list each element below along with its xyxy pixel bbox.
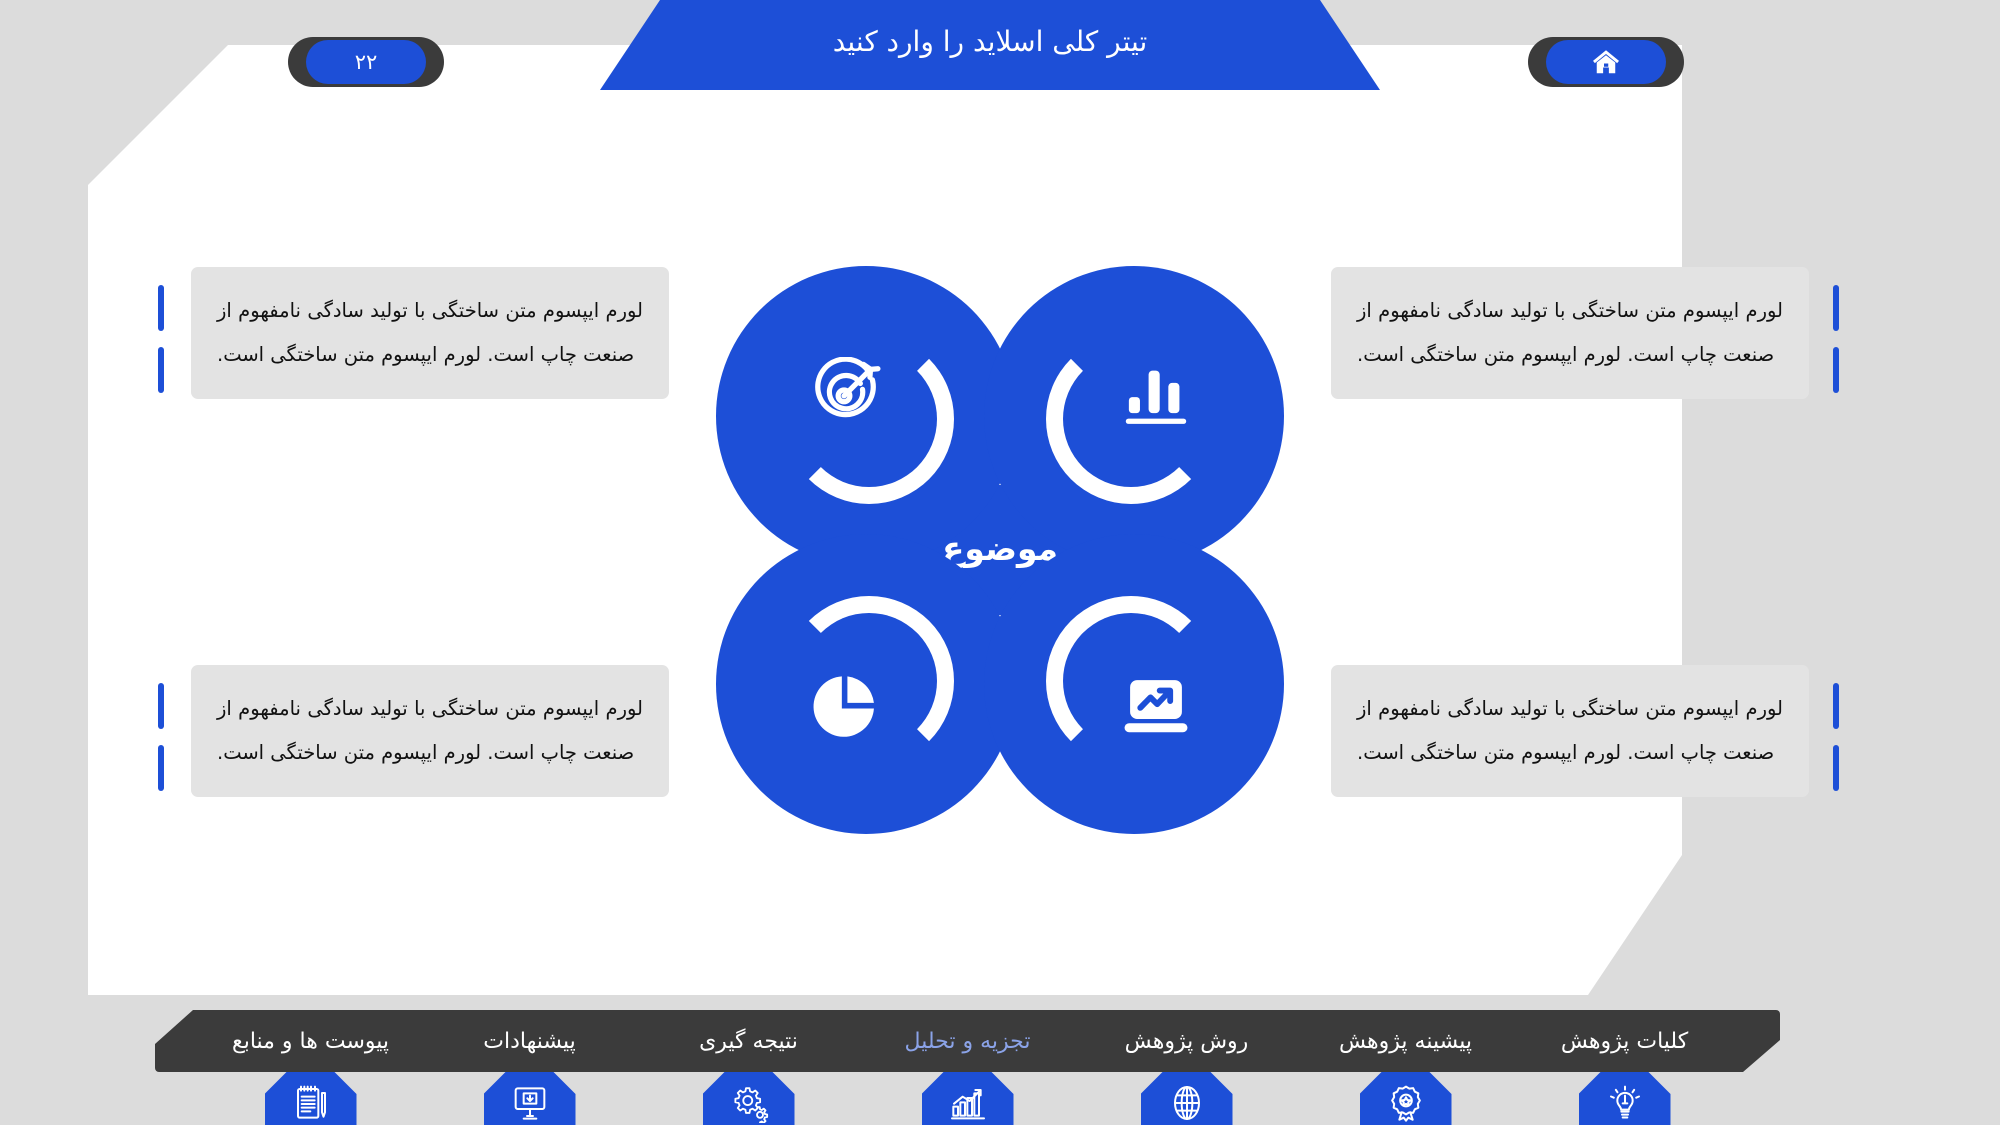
lightbulb-icon	[1605, 1083, 1645, 1123]
diagram-node-bottom-right[interactable]	[984, 534, 1284, 834]
globe-icon	[1167, 1083, 1207, 1123]
nav-item-pishine[interactable]: پیشینه پژوهش	[1296, 1029, 1515, 1054]
diagram-hub-label: موضوع	[942, 529, 1058, 568]
home-icon	[1591, 47, 1621, 77]
diagram-node-top-right[interactable]	[984, 266, 1284, 566]
bottom-navigation: کلیات پژوهش پیشینه پژوهش روش پژوهش تجزیه…	[155, 1010, 1780, 1072]
nav-icon-pishnahad[interactable]	[420, 1072, 639, 1125]
growth-bar-chart-icon	[948, 1083, 988, 1123]
nav-icon-tajziye[interactable]	[858, 1072, 1077, 1125]
diagram-node-bottom-left[interactable]	[716, 534, 1016, 834]
nav-icon-natije[interactable]	[639, 1072, 858, 1125]
page-title: تیتر کلی اسلاید را وارد کنید	[833, 25, 1148, 58]
target-dart-icon	[807, 357, 881, 431]
presentation-screen-icon	[510, 1083, 550, 1123]
slide-title-banner: تیتر کلی اسلاید را وارد کنید	[600, 0, 1380, 90]
nav-icon-pishine[interactable]	[1296, 1072, 1515, 1125]
text-card-bottom-left: لورم ایپسوم متن ساختگی با تولید سادگی نا…	[191, 665, 669, 797]
home-button[interactable]	[1528, 37, 1684, 87]
bar-chart-icon	[1119, 357, 1193, 431]
page-number-value: ۲۲	[306, 40, 426, 84]
laptop-trending-up-icon	[1119, 669, 1193, 743]
nav-icon-kolliyat[interactable]	[1515, 1072, 1734, 1125]
accent-tick	[1833, 745, 1839, 791]
award-badge-icon	[1386, 1083, 1426, 1123]
notepad-pencil-icon	[291, 1083, 331, 1123]
nav-item-tajziye[interactable]: تجزیه و تحلیل	[858, 1029, 1077, 1054]
accent-tick	[158, 285, 164, 331]
accent-tick	[158, 745, 164, 791]
home-button-inner[interactable]	[1546, 40, 1666, 84]
page-number-badge: ۲۲	[288, 37, 444, 87]
accent-tick	[1833, 347, 1839, 393]
text-card-bottom-right: لورم ایپسوم متن ساختگی با تولید سادگی نا…	[1331, 665, 1809, 797]
accent-tick	[158, 683, 164, 729]
text-card-top-left: لورم ایپسوم متن ساختگی با تولید سادگی نا…	[191, 267, 669, 399]
accent-ticks-bottom-right	[1833, 683, 1839, 791]
accent-ticks-bottom-left	[158, 683, 164, 791]
nav-item-peyvast[interactable]: پیوست ها و منابع	[201, 1029, 420, 1054]
accent-tick	[1833, 285, 1839, 331]
bottom-navigation-icons	[155, 1072, 1780, 1125]
nav-item-pishnahad[interactable]: پیشنهادات	[420, 1029, 639, 1054]
nav-item-ravesh[interactable]: روش پژوهش	[1077, 1029, 1296, 1054]
nav-item-kolliyat[interactable]: کلیات پژوهش	[1515, 1029, 1734, 1054]
accent-ticks-top-left	[158, 285, 164, 393]
accent-tick	[1833, 683, 1839, 729]
diagram-node-top-left[interactable]	[716, 266, 1016, 566]
nav-icon-peyvast[interactable]	[201, 1072, 420, 1125]
nav-item-natije[interactable]: نتیجه گیری	[639, 1029, 858, 1054]
gears-icon	[729, 1083, 769, 1123]
accent-ticks-top-right	[1833, 285, 1839, 393]
center-circle-diagram: موضوع	[722, 272, 1278, 828]
pie-chart-icon	[807, 669, 881, 743]
accent-tick	[158, 347, 164, 393]
nav-icon-ravesh[interactable]	[1077, 1072, 1296, 1125]
text-card-top-right: لورم ایپسوم متن ساختگی با تولید سادگی نا…	[1331, 267, 1809, 399]
slide-root: تیتر کلی اسلاید را وارد کنید ۲۲ لورم ایپ…	[0, 0, 2000, 1125]
